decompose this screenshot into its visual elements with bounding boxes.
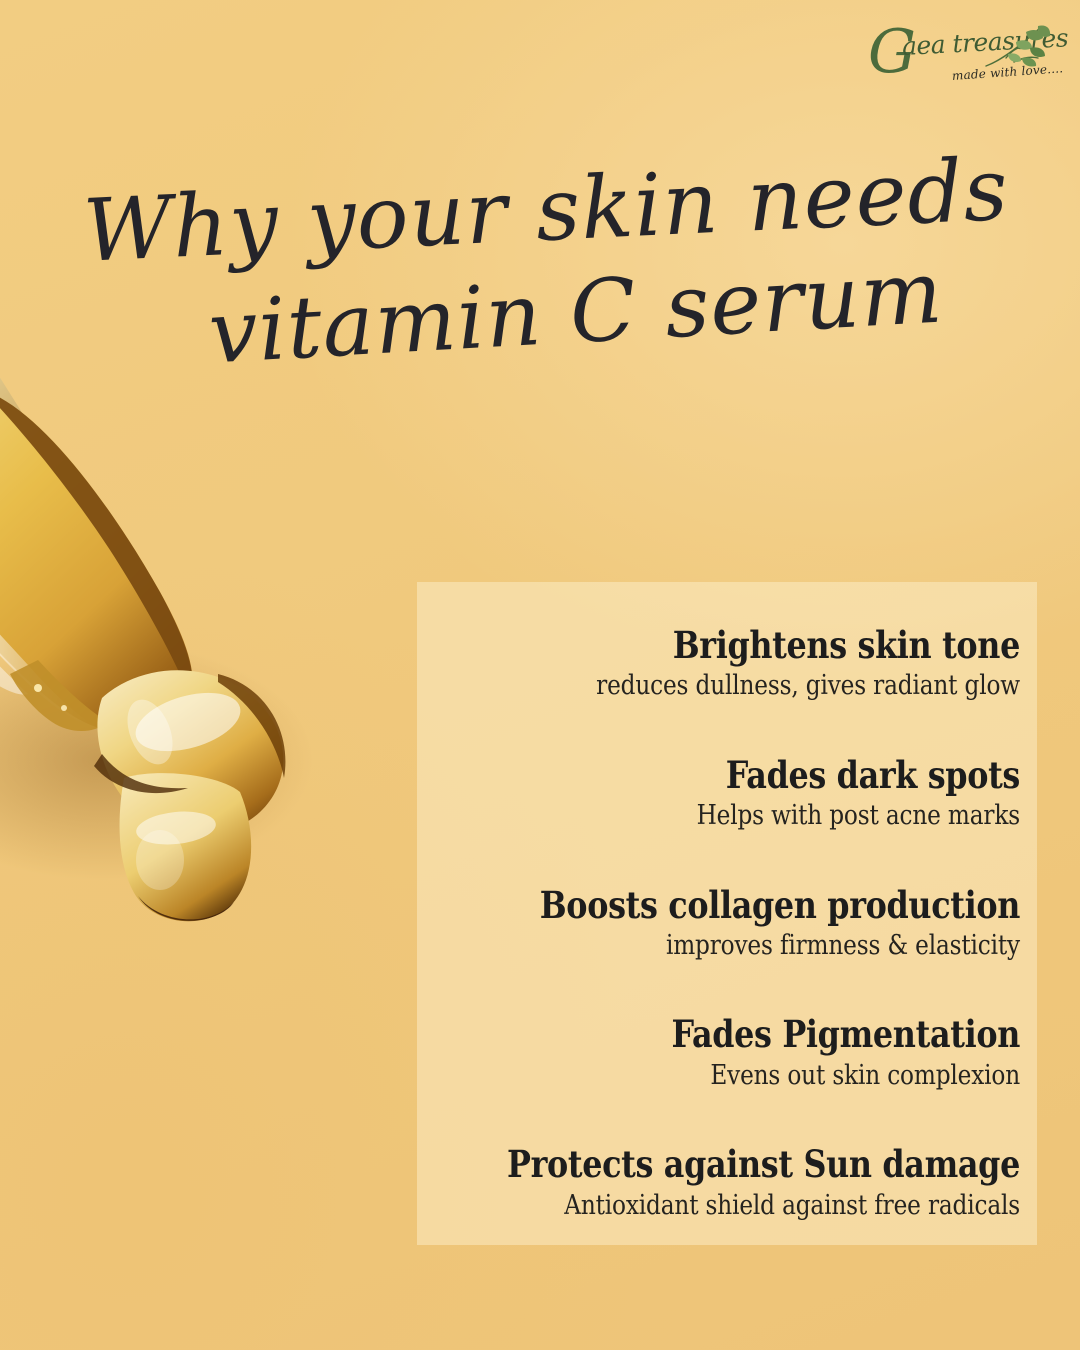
benefit-subtitle: reduces dullness, gives radiant glow — [501, 670, 1020, 702]
benefit-item: Protects against Sun damage Antioxidant … — [417, 1144, 1020, 1222]
benefit-item: Boosts collagen production improves firm… — [417, 885, 1020, 963]
benefit-title: Fades dark spots — [501, 755, 1020, 796]
benefit-subtitle: improves firmness & elasticity — [501, 930, 1020, 962]
benefit-subtitle: Helps with post acne marks — [501, 800, 1020, 832]
benefit-title: Protects against Sun damage — [501, 1144, 1020, 1185]
poster-canvas: G aea treasures made with love.... — [0, 0, 1080, 1350]
leaf-sprig-icon — [980, 20, 1052, 74]
benefit-item: Fades dark spots Helps with post acne ma… — [417, 755, 1020, 833]
serum-dropper-illustration — [0, 330, 418, 950]
benefit-item: Brightens skin tone reduces dullness, gi… — [417, 625, 1020, 703]
benefit-title: Boosts collagen production — [501, 885, 1020, 926]
benefit-item: Fades Pigmentation Evens out skin comple… — [417, 1014, 1020, 1092]
benefits-list: Brightens skin tone reduces dullness, gi… — [417, 582, 1020, 1245]
benefit-title: Brightens skin tone — [501, 625, 1020, 666]
benefit-subtitle: Evens out skin complexion — [501, 1060, 1020, 1092]
headline-line-1: Why your skin needs — [5, 143, 1080, 280]
page-title: Why your skin needs vitamin C serum — [0, 168, 1080, 359]
benefit-title: Fades Pigmentation — [501, 1014, 1020, 1055]
brand-logo: G aea treasures made with love.... — [866, 18, 1056, 102]
headline-line-2: vitamin C serum — [34, 240, 1080, 388]
benefit-subtitle: Antioxidant shield against free radicals — [501, 1190, 1020, 1222]
